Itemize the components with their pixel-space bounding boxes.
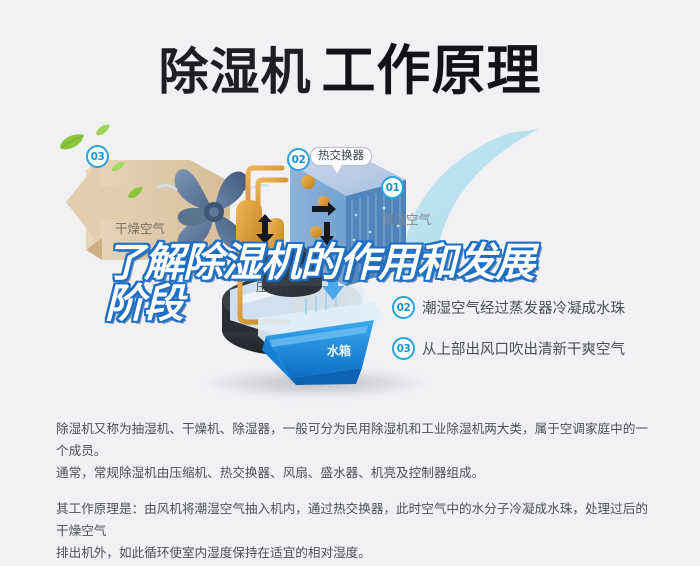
leaf-icon [127, 185, 144, 204]
label-water-tank: 水箱 [327, 342, 351, 359]
leaf-icon [95, 122, 111, 141]
infographic-page: 除湿机工作原理 [0, 0, 700, 566]
diagram-badge-02: 02 [287, 148, 310, 171]
paragraph-2-line-1: 其工作原理是：由风机将潮湿空气抽入机内，通过热交换器，此时空气中的水分子冷凝成水… [56, 498, 656, 542]
paragraph-1: 除湿机又称为抽湿机、干燥机、除湿器，一般可分为民用除湿机和工业除湿机两大类，属于… [56, 418, 656, 484]
page-title: 除湿机工作原理 [0, 26, 700, 105]
label-humid-air: 潮湿空气 [381, 209, 431, 228]
page-title-part2: 工作原理 [322, 39, 542, 102]
paragraph-2-line-2: 排出机外，如此循环使室内湿度保持在适宜的相对湿度。 [56, 542, 656, 564]
page-title-part1: 除湿机 [159, 43, 312, 101]
leaf-icon [58, 132, 86, 156]
paragraph-1-line-2: 通常，常规除湿机由压缩机、热交换器、风扇、盛水器、机亮及控制器组成。 [56, 462, 656, 484]
watermark-overlay: 了解除湿机的作用和发展 阶段 [105, 243, 625, 325]
legend-badge-03: 03 [392, 337, 415, 360]
heat-exchanger-callout: 热交换器 [310, 147, 372, 166]
label-dry-air: 干燥空气 [115, 218, 165, 237]
paragraph-2: 其工作原理是：由风机将潮湿空气抽入机内，通过热交换器，此时空气中的水分子冷凝成水… [56, 498, 656, 564]
paragraph-1-line-1: 除湿机又称为抽湿机、干燥机、除湿器，一般可分为民用除湿机和工业除湿机两大类，属于… [56, 418, 656, 462]
body-copy: 除湿机又称为抽湿机、干燥机、除湿器，一般可分为民用除湿机和工业除湿机两大类，属于… [56, 418, 656, 564]
watermark-line-2: 阶段 [105, 284, 625, 325]
legend-item: 03 从上部出风口吹出清新干爽空气 [392, 337, 692, 360]
leaf-icon [111, 158, 126, 177]
legend-text-03: 从上部出风口吹出清新干爽空气 [422, 338, 625, 359]
watermark-line-1: 了解除湿机的作用和发展 [105, 243, 625, 284]
diagram-badge-01: 01 [381, 176, 404, 199]
diagram-badge-03: 03 [86, 145, 109, 168]
callout-tail-icon [332, 165, 342, 174]
